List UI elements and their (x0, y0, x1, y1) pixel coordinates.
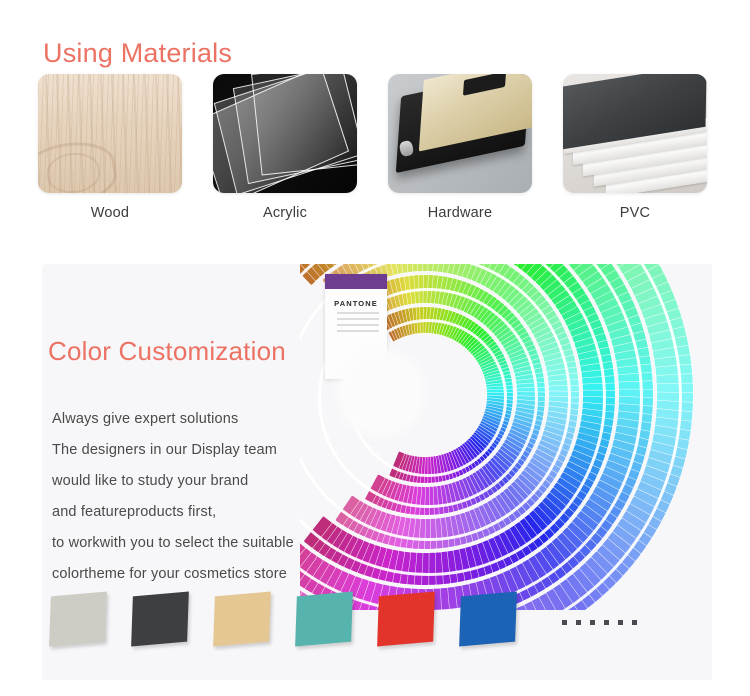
pantone-blade (547, 487, 579, 514)
pantone-blade (369, 510, 387, 541)
pantone-blade (478, 465, 502, 491)
pantone-blade (578, 345, 612, 364)
materials-section-title: Using Materials (43, 38, 232, 69)
pantone-blade (484, 367, 511, 381)
pantone-blade (478, 540, 501, 574)
pantone-blade (616, 354, 652, 373)
pantone-blade (398, 551, 412, 584)
pantone-blade (426, 519, 438, 550)
pantone-blade (508, 481, 536, 509)
pantone-blade (487, 392, 513, 399)
pantone-blade (530, 505, 561, 535)
pantone-blade (487, 385, 514, 394)
pantone-blade (517, 391, 545, 399)
pantone-blade (405, 552, 417, 584)
pantone-blade (357, 506, 377, 537)
pantone-blade (437, 485, 450, 514)
color-swatch-blue[interactable] (459, 591, 517, 646)
more-dot (604, 620, 609, 625)
pantone-blade (458, 321, 477, 346)
pantone-blade (442, 277, 455, 306)
pantone-blade (456, 513, 474, 544)
pantone-blade (487, 398, 513, 405)
pantone-blade (540, 336, 571, 356)
pantone-fan-pivot (342, 354, 420, 432)
material-card-wood[interactable]: Wood (38, 74, 182, 221)
more-dot (618, 620, 623, 625)
pantone-blade (539, 496, 571, 525)
pantone-blade (582, 408, 615, 422)
pantone-blade (594, 282, 630, 310)
pvc-sheets-icon (563, 74, 707, 193)
pantone-blade (455, 548, 474, 582)
pantone-blade (647, 449, 685, 471)
pantone-blade (574, 332, 608, 353)
pantone-blade (397, 453, 409, 480)
pantone-blade (416, 264, 427, 271)
pantone-blade (429, 486, 440, 515)
pantone-blade (300, 264, 323, 281)
pantone-blade (597, 290, 633, 317)
pantone-blade (483, 363, 509, 378)
pantone-blade (618, 370, 653, 386)
color-swatch-red[interactable] (377, 591, 435, 646)
pantone-blade (525, 304, 555, 329)
pantone-blade (497, 270, 522, 300)
pantone-blade (486, 381, 513, 391)
pantone-blade (421, 519, 432, 549)
pantone-blade (538, 331, 569, 352)
pantone-blade (582, 402, 614, 414)
pantone-blade (383, 549, 399, 582)
pantone-blade (620, 510, 658, 540)
pantone-blade (549, 390, 579, 400)
material-label: Wood (38, 205, 182, 221)
pantone-blade (386, 515, 401, 546)
pantone-blade (492, 494, 517, 524)
pantone-blade (403, 485, 414, 514)
pantone-blade (410, 264, 422, 272)
pantone-blade (486, 377, 513, 388)
pantone-blade (568, 264, 602, 274)
pantone-blade (528, 309, 558, 333)
pantone-blade (657, 381, 694, 397)
pantone-blade (494, 315, 520, 339)
pantone-blade (404, 308, 416, 335)
pantone-blade (623, 264, 661, 285)
pantone-blade (436, 517, 450, 548)
pantone-blade (603, 305, 639, 330)
pantone-blade (579, 353, 613, 371)
pantone-blade (392, 264, 408, 274)
pantone-blade (398, 264, 413, 273)
copy-line: to workwith you to select the suitable (52, 528, 294, 559)
pantone-blade (436, 588, 453, 610)
pantone-blade (486, 404, 513, 413)
pantone-blade (440, 484, 454, 513)
pantone-blade (447, 264, 462, 275)
pantone-blade (369, 546, 387, 580)
pantone-blade (438, 276, 450, 305)
pantone-blade (501, 273, 527, 302)
pantone-blade (619, 387, 653, 401)
pantone-blade (474, 341, 498, 362)
pantone-blade (617, 410, 652, 425)
color-swatch-teal[interactable] (295, 591, 353, 646)
pantone-blade (462, 476, 482, 504)
pantone-blade (421, 457, 428, 483)
pantone-blade (574, 438, 608, 457)
pantone-blade (516, 381, 545, 392)
pantone-blade (317, 524, 343, 557)
pantone-blade (512, 477, 541, 504)
pantone-blade (467, 436, 490, 458)
pantone-blade (449, 314, 465, 340)
pantone-blade (616, 417, 651, 433)
pantone-blade (541, 430, 572, 447)
pantone-blade (535, 325, 566, 347)
pantone-blade (583, 498, 618, 527)
pantone-blade (427, 275, 435, 303)
pantone-blade (517, 396, 545, 404)
pantone-blade (437, 454, 450, 481)
pantone-blade (556, 578, 589, 610)
pantone-blade (594, 544, 631, 578)
pantone-blade (465, 509, 485, 540)
pantone-blade (410, 519, 420, 549)
pantone-blade (483, 302, 506, 329)
pantone-blade (548, 401, 578, 412)
pantone-blade (618, 403, 652, 417)
pantone-blade (465, 327, 486, 351)
pantone-blade (521, 514, 550, 545)
pantone-blade (578, 504, 613, 533)
pantone-blade (469, 332, 492, 355)
pantone-blade (511, 264, 538, 269)
pantone-blade (336, 496, 360, 526)
pantone-blade (517, 400, 545, 409)
copy-line: would like to study your brand (52, 466, 294, 497)
pantone-blade (366, 475, 385, 504)
more-dot (562, 620, 567, 625)
color-customization-title: Color Customization (48, 336, 286, 367)
pantone-blade (547, 366, 578, 381)
pantone-blade (656, 371, 693, 388)
pantone-blade (487, 389, 513, 397)
pantone-blade (505, 277, 531, 306)
pantone-blade (431, 275, 440, 303)
pantone-blade (423, 307, 430, 333)
pantone-blade (398, 485, 410, 514)
pantone-blade (514, 367, 543, 381)
pantone-blade (520, 601, 549, 610)
pantone-blade (542, 588, 574, 610)
pantone-blade (513, 415, 542, 428)
pantone-blade (655, 362, 692, 380)
pantone-blade (590, 275, 626, 304)
pantone-blade (401, 309, 414, 336)
more-colors-indicator (562, 620, 637, 625)
pantone-blade (549, 396, 579, 406)
pantone-blade (548, 372, 579, 386)
pantone-blade (649, 324, 687, 347)
pantone-blade (434, 308, 444, 335)
pantone-blade (617, 362, 652, 379)
pantone-blade (582, 374, 615, 388)
pantone-blade (437, 551, 452, 584)
pantone-blade (522, 466, 552, 491)
color-swatch-tan[interactable] (213, 591, 271, 646)
pantone-blade (473, 542, 495, 576)
pantone-blade (525, 555, 555, 590)
pantone-blade (467, 330, 489, 353)
pantone-blade (567, 311, 601, 335)
pantone-blade (470, 335, 493, 357)
pantone-blade (548, 378, 579, 391)
pantone-blade (583, 381, 616, 394)
pantone-blade (445, 452, 461, 478)
color-swatch-light-gray[interactable] (49, 591, 107, 646)
pantone-blade (610, 524, 648, 556)
pantone-blade (432, 456, 443, 483)
color-customization-section: PANTONE Color Customization Always give … (42, 264, 712, 680)
pantone-blade (389, 278, 405, 307)
pantone-blade (484, 537, 508, 571)
pantone-blade (465, 474, 486, 502)
pantone-blade (463, 325, 484, 349)
pantone-blade (619, 379, 654, 394)
pantone-blade (518, 559, 547, 594)
pantone-blade (511, 422, 540, 437)
pantone-blade (572, 325, 606, 347)
pantone-blade (539, 264, 570, 294)
pantone-blade (558, 292, 591, 318)
pantone-blade (356, 580, 377, 610)
pantone-blade (564, 521, 598, 553)
pantone-blade (485, 370, 512, 383)
pantone-blade (459, 444, 480, 468)
color-swatch-charcoal[interactable] (131, 591, 189, 646)
pantone-blade (477, 296, 499, 323)
pantone-blade (450, 449, 468, 475)
pantone-blade (426, 307, 432, 333)
pantone-blade (484, 500, 508, 530)
pantone-blade (652, 432, 690, 452)
material-card-pvc[interactable]: PVC (563, 74, 707, 221)
pantone-blade (638, 288, 677, 315)
pantone-blade (418, 487, 426, 515)
using-materials-section: Using Materials Wood Acrylic Hardware (0, 0, 750, 240)
pantone-blade (588, 550, 624, 585)
pantone-blade (491, 311, 516, 336)
pantone-blade (480, 353, 506, 371)
pantone-blade (429, 307, 437, 333)
pantone-blade (512, 285, 540, 313)
pantone-blade (443, 587, 461, 610)
pantone-blade (469, 472, 491, 500)
pantone-blade (535, 264, 565, 289)
pantone-blade (515, 474, 544, 500)
pantone-blade (453, 281, 469, 310)
pantone-blade (380, 480, 396, 509)
pantone-blade (454, 447, 473, 472)
pantone-blade (390, 451, 404, 477)
pantone-blade (474, 428, 499, 447)
pantone-blade (416, 519, 425, 549)
pantone-blade (398, 276, 412, 305)
pantone-blade (506, 432, 535, 450)
pantone-blade (394, 484, 407, 513)
pantone-blade (653, 343, 691, 364)
pantone-blade (581, 414, 614, 429)
pantone-blade (300, 545, 312, 580)
pantone-blade (386, 264, 403, 275)
pantone-blade (535, 444, 566, 464)
pantone-blade (493, 452, 520, 475)
pantone-blade (546, 416, 577, 430)
pantone-blade (387, 313, 404, 339)
pantone-blade (549, 384, 580, 395)
pantone-blade (543, 492, 575, 520)
pantone-blade (615, 517, 653, 548)
pantone-blade (579, 420, 612, 436)
pantone-blade (392, 516, 406, 547)
pantone-blade (506, 264, 532, 265)
pantone-blade (501, 327, 528, 349)
pantone-blade (583, 389, 615, 401)
pantone-blade (452, 448, 471, 473)
pantone-blade (447, 451, 464, 477)
pantone-blade (475, 468, 498, 495)
pantone-blade (495, 449, 522, 472)
pantone-blade (615, 424, 651, 442)
pantone-blade (400, 454, 411, 481)
pantone-blade (539, 435, 570, 453)
pantone-blade (521, 264, 549, 276)
pantone-blade (516, 518, 545, 550)
pantone-blade (576, 338, 610, 358)
pantone-blade (470, 507, 491, 538)
pantone-blade (632, 488, 671, 515)
pantone-blade (463, 286, 482, 315)
pantone-blade (498, 323, 525, 346)
pantone-blade (408, 486, 418, 515)
pantone-blade (431, 307, 440, 333)
pantone-blade (465, 438, 488, 460)
pantone-blade (546, 360, 577, 376)
pantone-blade (300, 554, 324, 590)
pantone-blade (496, 319, 522, 343)
pantone-blade (415, 457, 422, 483)
pantone-blade (569, 568, 604, 604)
pantone-blade (573, 264, 607, 279)
pantone-blade (490, 534, 515, 567)
pantone-blade (578, 264, 613, 285)
copy-line: The designers in our Display team (52, 435, 294, 466)
pantone-blade (300, 550, 318, 585)
pantone-blade (331, 493, 355, 523)
pantone-blade (467, 544, 488, 578)
pantone-blade (476, 426, 502, 444)
pantone-blade (537, 439, 568, 458)
pantone-blade (600, 297, 636, 323)
pantone-blade (551, 482, 584, 509)
pantone-blade (451, 514, 468, 545)
pantone-blade (561, 466, 594, 490)
pantone-blade (599, 537, 636, 570)
copy-line: and featureproducts first, (52, 497, 294, 528)
pantone-blade (459, 478, 478, 506)
pantone-blade (435, 455, 447, 482)
pantone-blade (480, 419, 506, 434)
pantone-blade (541, 342, 572, 361)
pantone-blade (449, 279, 464, 308)
material-card-hardware[interactable]: Hardware (388, 74, 532, 221)
pantone-blade (408, 307, 419, 334)
pantone-blade (555, 286, 587, 313)
pantone-blade (657, 399, 693, 414)
pantone-blade (591, 486, 627, 513)
pantone-blade (563, 264, 596, 268)
pantone-blade (473, 293, 494, 321)
pantone-blade (606, 313, 642, 337)
pantone-blade (472, 470, 494, 497)
pantone-blade (604, 459, 640, 482)
pantone-blade (355, 542, 375, 576)
pantone-blade (384, 481, 399, 510)
pantone-blade (421, 487, 430, 515)
pantone-blade (444, 311, 458, 338)
pantone-blade (389, 482, 403, 511)
pantone-blade (516, 403, 545, 413)
material-card-acrylic[interactable]: Acrylic (213, 74, 357, 221)
pantone-blade (537, 546, 568, 580)
pantone-blade (441, 516, 456, 547)
pantone-blade (310, 264, 338, 269)
pantone-blade (470, 290, 490, 318)
pantone-blade (515, 407, 544, 418)
pantone-blade (528, 457, 559, 480)
pantone-blade (628, 495, 667, 523)
pantone-blade (624, 503, 662, 532)
pantone-blade (583, 396, 615, 407)
pantone-blade (555, 477, 588, 503)
pantone-blade (504, 436, 532, 455)
pantone-blade (457, 282, 474, 311)
pantone-blade (469, 434, 493, 455)
pantone-blade (376, 548, 393, 582)
pantone-blade (427, 457, 436, 484)
pantone-blade (500, 442, 528, 463)
pantone-blade (564, 305, 597, 330)
color-customization-copy: Always give expert solutions The designe… (52, 404, 294, 590)
pantone-blade (549, 583, 581, 610)
pantone-blade (611, 329, 647, 351)
pantone-blade (304, 264, 333, 273)
pantone-blade (428, 264, 438, 271)
pantone-blade (488, 308, 513, 334)
pantone-blade (311, 521, 338, 554)
pantone-blade (442, 310, 455, 337)
pantone-blade (578, 426, 612, 443)
pantone-blade (300, 264, 328, 277)
pantone-blade (486, 401, 512, 409)
pantone-blade (636, 480, 675, 506)
pantone-blade (505, 335, 533, 356)
pantone-blade (544, 421, 575, 436)
pantone-blade (467, 288, 487, 316)
pantone-blade (526, 510, 556, 541)
